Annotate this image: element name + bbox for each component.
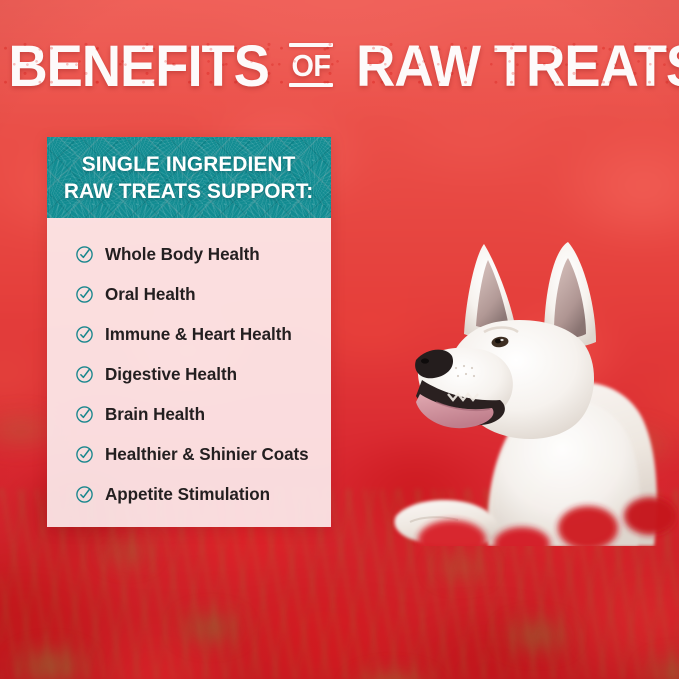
dog-photo: [392, 216, 678, 546]
circle-check-icon: [75, 405, 94, 424]
promo-graphic: BENEFITSOFRAW TREATS SINGLE INGREDIENT R…: [0, 0, 679, 679]
title-connector-label: OF: [292, 50, 331, 81]
circle-check-icon: [75, 325, 94, 344]
list-item-label: Whole Body Health: [105, 244, 260, 265]
circle-check-icon: [75, 285, 94, 304]
circle-check-icon: [75, 485, 94, 504]
title-word-raw-treats: RAW TREATS: [356, 38, 679, 96]
circle-check-icon: [75, 245, 94, 264]
list-item: Oral Health: [47, 274, 331, 314]
list-item-label: Brain Health: [105, 404, 205, 425]
benefits-heading-line-2: RAW TREATS SUPPORT:: [64, 178, 313, 204]
page-title: BENEFITSOFRAW TREATS: [0, 38, 679, 96]
list-item: Digestive Health: [47, 354, 331, 394]
circle-check-icon: [75, 365, 94, 384]
benefits-card: SINGLE INGREDIENT RAW TREATS SUPPORT: Wh…: [47, 137, 331, 527]
list-item: Whole Body Health: [47, 234, 331, 274]
list-item-label: Immune & Heart Health: [105, 324, 292, 345]
list-item-label: Oral Health: [105, 284, 196, 305]
list-item: Immune & Heart Health: [47, 314, 331, 354]
title-word-benefits: BENEFITS: [8, 38, 269, 96]
benefits-heading-line-1: SINGLE INGREDIENT: [64, 151, 313, 177]
list-item-label: Healthier & Shinier Coats: [105, 444, 309, 465]
list-item: Appetite Stimulation: [47, 474, 331, 514]
benefits-list: Whole Body Health Oral Health Immune & H…: [47, 218, 331, 527]
circle-check-icon: [75, 445, 94, 464]
list-item-label: Appetite Stimulation: [105, 484, 270, 505]
list-item-label: Digestive Health: [105, 364, 237, 385]
list-item: Brain Health: [47, 394, 331, 434]
benefits-card-header: SINGLE INGREDIENT RAW TREATS SUPPORT:: [47, 137, 331, 218]
list-item: Healthier & Shinier Coats: [47, 434, 331, 474]
benefits-card-heading: SINGLE INGREDIENT RAW TREATS SUPPORT:: [55, 151, 324, 203]
title-connector-of: OF: [288, 43, 334, 87]
